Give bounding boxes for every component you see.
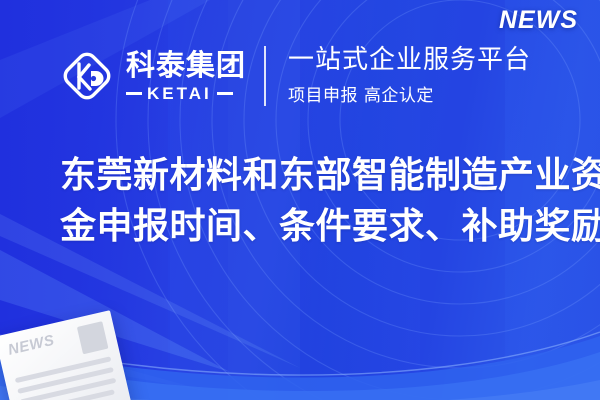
brand-divider <box>264 46 266 106</box>
headline-line-1: 东莞新材料和东部智能制造产业资 <box>60 150 560 201</box>
brand-name-en-row: KETAI <box>126 85 246 102</box>
brand-name-cn: 科泰集团 <box>126 51 246 80</box>
brand-wordmark: 科泰集团 KETAI <box>126 51 246 102</box>
headline: 东莞新材料和东部智能制造产业资 金申报时间、条件要求、补助奖励 <box>60 150 560 252</box>
news-badge: NEWS <box>499 6 578 35</box>
ketai-monogram-icon <box>58 47 116 105</box>
newspaper-thumbnail <box>77 321 109 354</box>
brand-name-en: KETAI <box>147 85 212 102</box>
news-banner: NEWS 科泰集团 KETAI <box>0 0 600 400</box>
tagline-main: 一站式企业服务平台 <box>288 46 531 74</box>
tagline-sub: 项目申报 高企认定 <box>288 81 531 106</box>
wordmark-dash-right <box>217 92 233 95</box>
wordmark-dash-left <box>126 92 142 95</box>
headline-line-2: 金申报时间、条件要求、补助奖励 <box>60 201 560 252</box>
tagline-block: 一站式企业服务平台 项目申报 高企认定 <box>288 46 531 105</box>
newspaper-title: NEWS <box>7 333 56 358</box>
brand-header: 科泰集团 KETAI 一站式企业服务平台 项目申报 高企认定 <box>58 40 531 112</box>
